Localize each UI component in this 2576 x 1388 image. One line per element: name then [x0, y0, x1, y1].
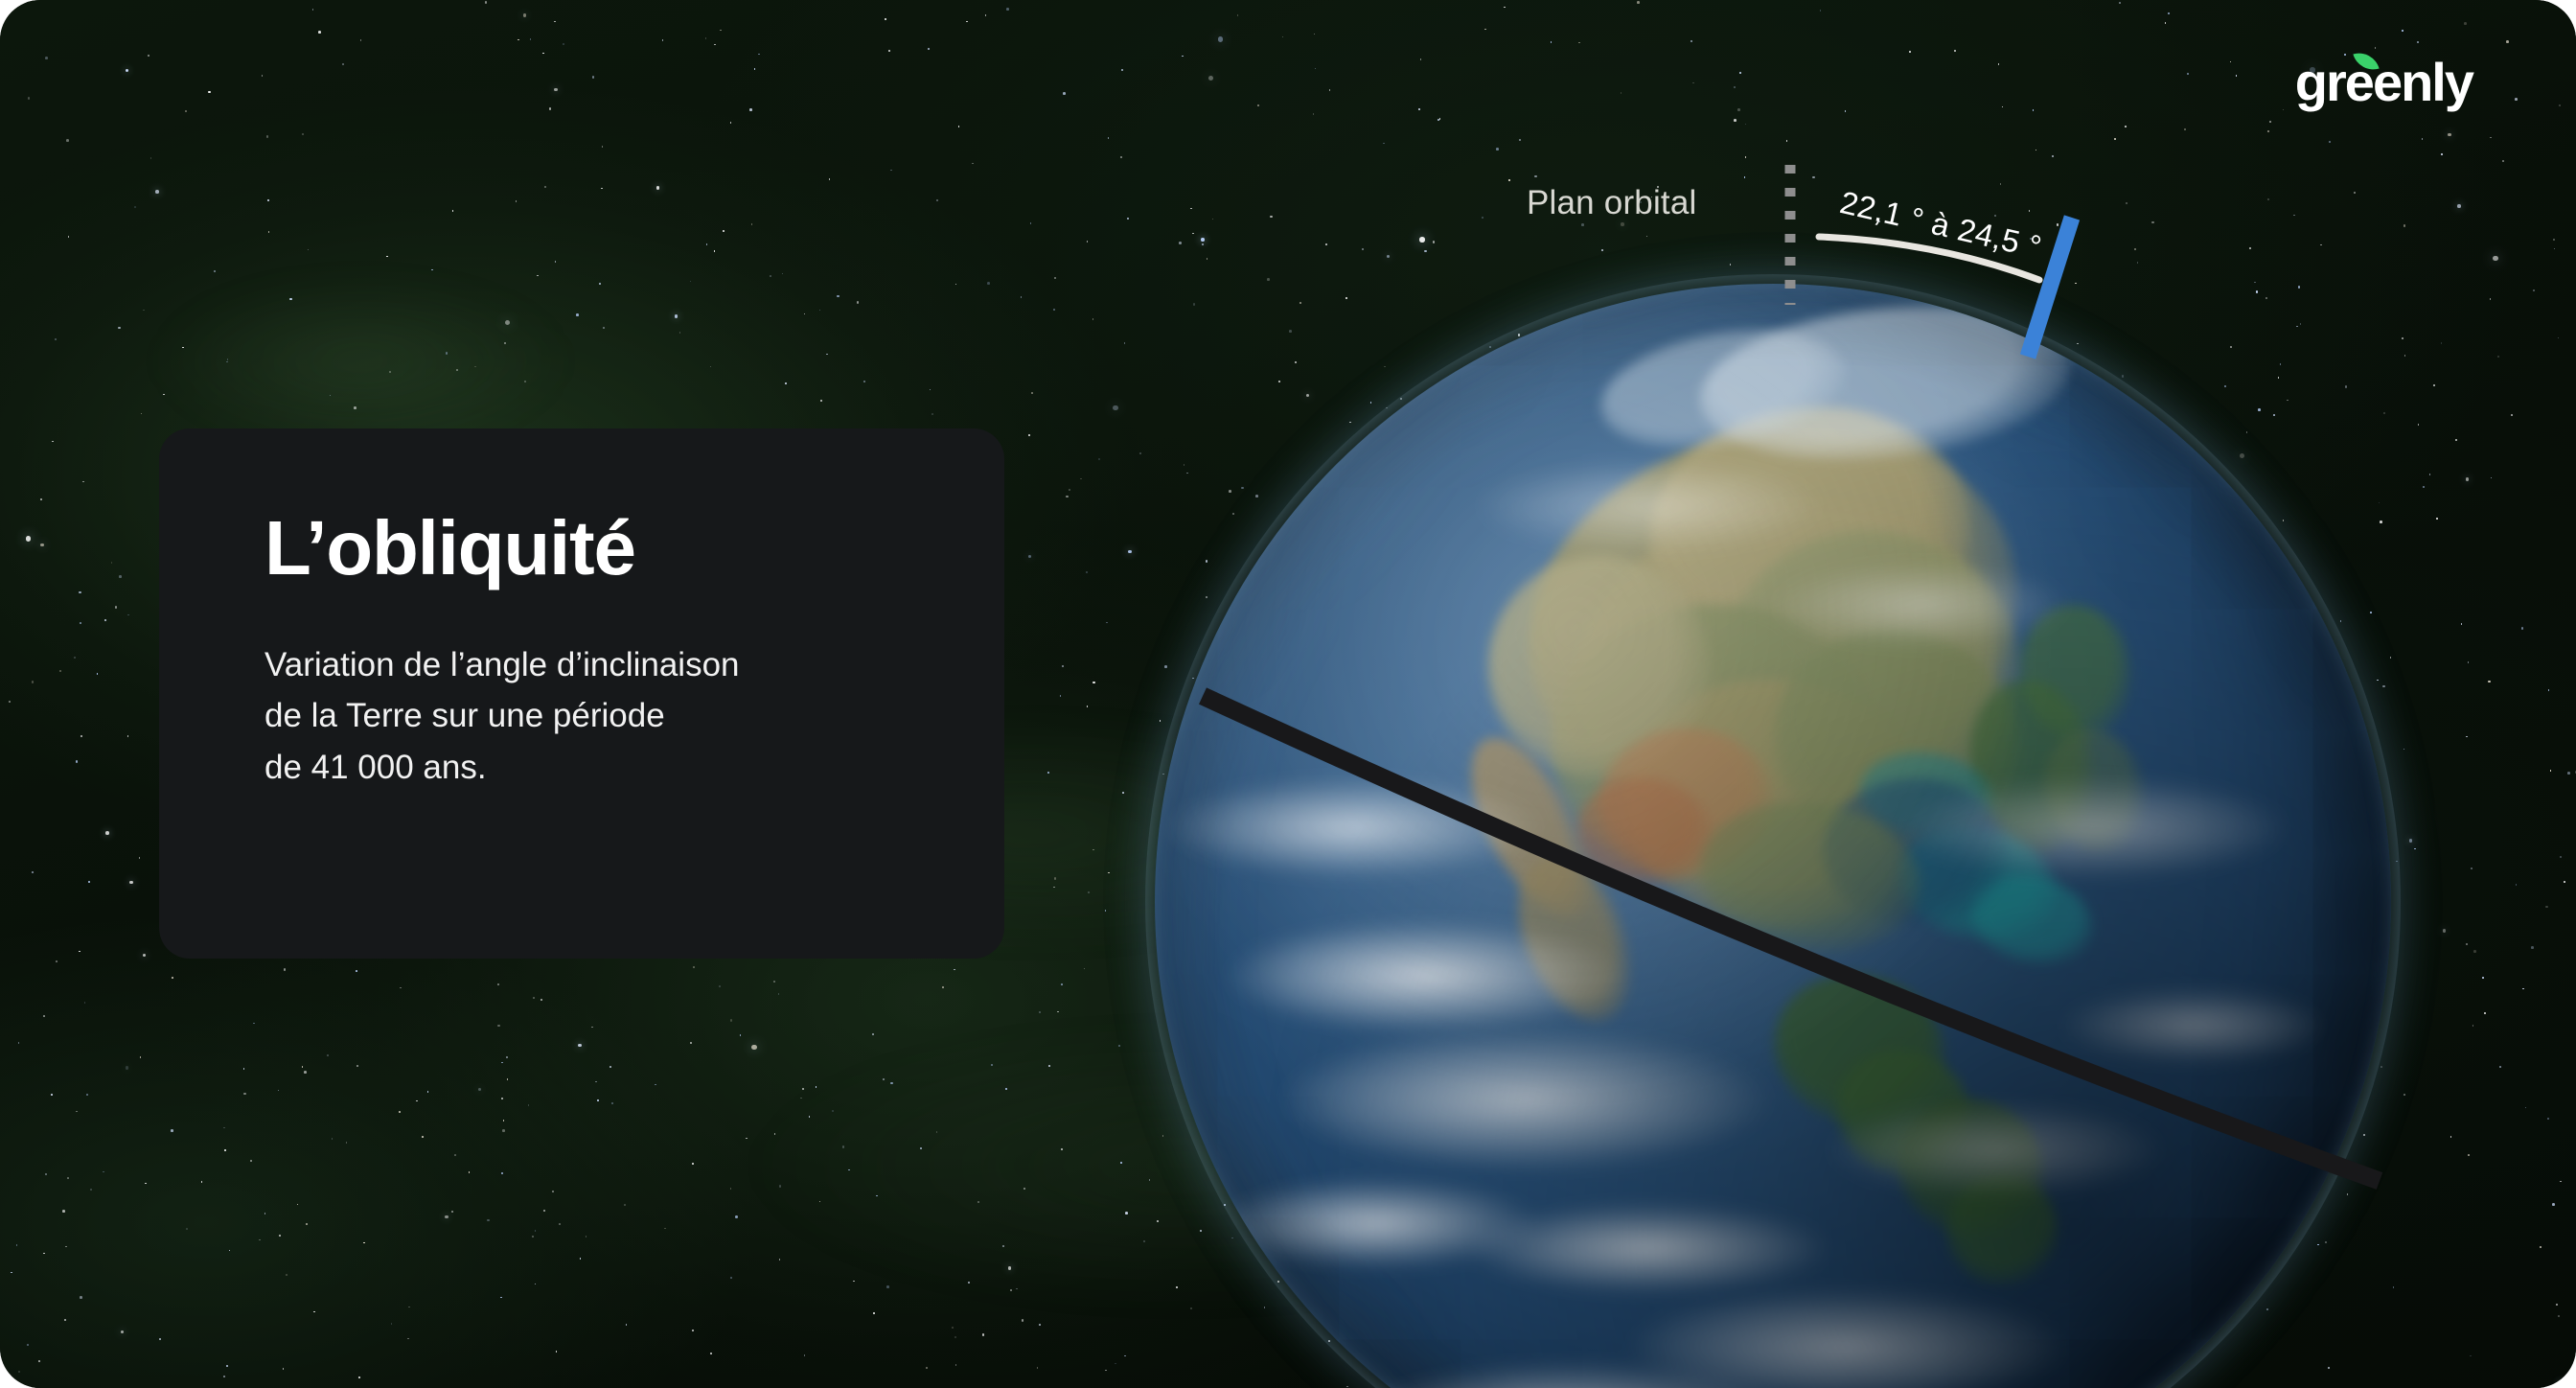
page-title: L’obliquité: [264, 508, 935, 588]
greenly-logo[interactable]: greenly: [2295, 53, 2472, 112]
card-description: Variation de l’angle d’inclinaison de la…: [264, 639, 935, 793]
equator-line: [1203, 696, 2380, 1181]
info-card-content: L’obliquité Variation de l’angle d’incli…: [264, 508, 935, 793]
slide-canvas: Plan orbital 22,1 ° à 24,5 ° L’obliquité…: [0, 0, 2576, 1388]
logo-wordmark: greenly: [2295, 56, 2472, 109]
info-card: L’obliquité Variation de l’angle d’incli…: [159, 428, 1004, 959]
orbital-plane-label: Plan orbital: [1527, 184, 1697, 222]
